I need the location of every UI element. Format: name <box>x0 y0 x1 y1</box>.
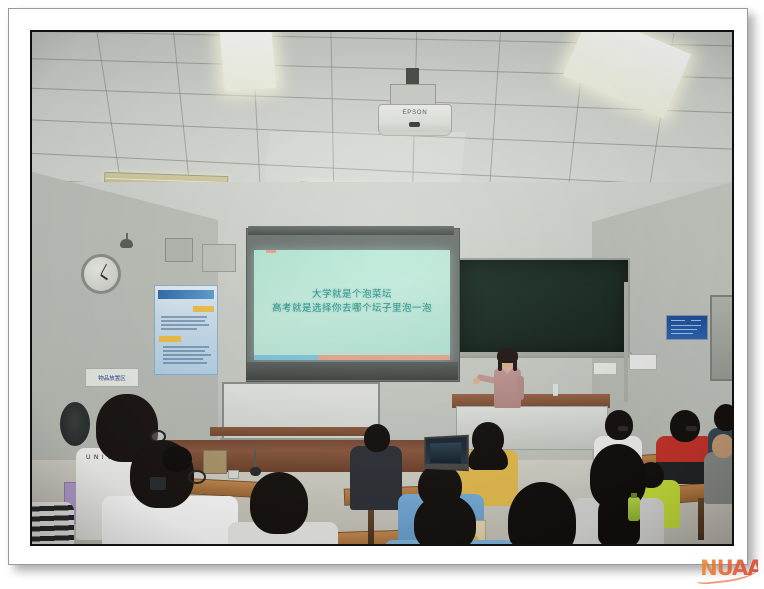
wall-sign-white <box>629 354 657 370</box>
wall-placard-text: 物品放置区 <box>98 374 126 382</box>
bottle-cap <box>631 493 637 498</box>
projection-screen-bottom-bar <box>246 362 458 380</box>
projector-body: EPSON <box>378 104 452 136</box>
microphone-rod <box>254 450 256 468</box>
electrical-panel <box>710 295 734 381</box>
poster-tag-1 <box>193 306 214 312</box>
clock-minute-hand <box>100 264 107 275</box>
slide-accent-square <box>266 250 276 253</box>
laptop-keyboard-base <box>424 464 468 469</box>
security-camera-icon <box>120 239 133 248</box>
presenter-hair-side-left <box>498 356 502 371</box>
wall-poster <box>154 285 218 375</box>
clock-hour-hand <box>101 274 108 280</box>
slide-footer-bar-peach <box>318 355 450 360</box>
projector-lens <box>409 122 420 127</box>
projector-mount <box>406 68 419 85</box>
wall-outlet <box>228 470 239 479</box>
wall-fan <box>60 402 90 446</box>
wall-wood-panel <box>203 450 227 474</box>
presenter-hair-side-right <box>513 356 517 371</box>
projection-screen-case <box>248 226 454 235</box>
nuaa-watermark: NUAA <box>700 556 758 582</box>
presenter-left-hand <box>473 378 480 384</box>
wall-clock-icon <box>81 254 121 294</box>
ceiling-tube-light-left <box>219 30 276 92</box>
wall-placard: 物品放置区 <box>85 368 139 387</box>
phone-device <box>150 477 166 490</box>
stage-step-upper <box>210 427 382 436</box>
projector-brand-label: EPSON <box>379 110 451 116</box>
classroom-photograph: EPSON 大学就是个泡菜坛 高考就是选择你去哪个坛子里泡一泡 <box>30 30 734 546</box>
chalkboard <box>456 258 630 358</box>
wall-speaker-right <box>202 244 236 272</box>
desk-leg-right <box>698 498 704 540</box>
stage-platform-face <box>152 450 462 472</box>
green-water-bottle <box>628 497 640 521</box>
microphone <box>250 467 261 476</box>
wall-sign-small <box>593 362 617 375</box>
projection-screen: 大学就是个泡菜坛 高考就是选择你去哪个坛子里泡一泡 <box>254 250 450 360</box>
poster-tag-2 <box>159 336 181 342</box>
slide-footer-bar-blue <box>254 355 318 360</box>
chalkboard-rail <box>452 352 632 356</box>
water-bottle-on-podium <box>553 384 558 396</box>
presenter-right-arm <box>517 376 524 400</box>
poster-header-band <box>158 290 214 299</box>
presenter-lecturer <box>487 350 529 412</box>
laptop-display-content <box>430 442 461 463</box>
wall-speaker-left <box>165 238 193 262</box>
slide-headline-line-2: 高考就是选择你去哪个坛子里泡一泡 <box>254 300 450 314</box>
slide-headline-line-1: 大学就是个泡菜坛 <box>254 286 450 300</box>
door-edge <box>624 282 628 402</box>
led-info-sign <box>666 315 708 340</box>
